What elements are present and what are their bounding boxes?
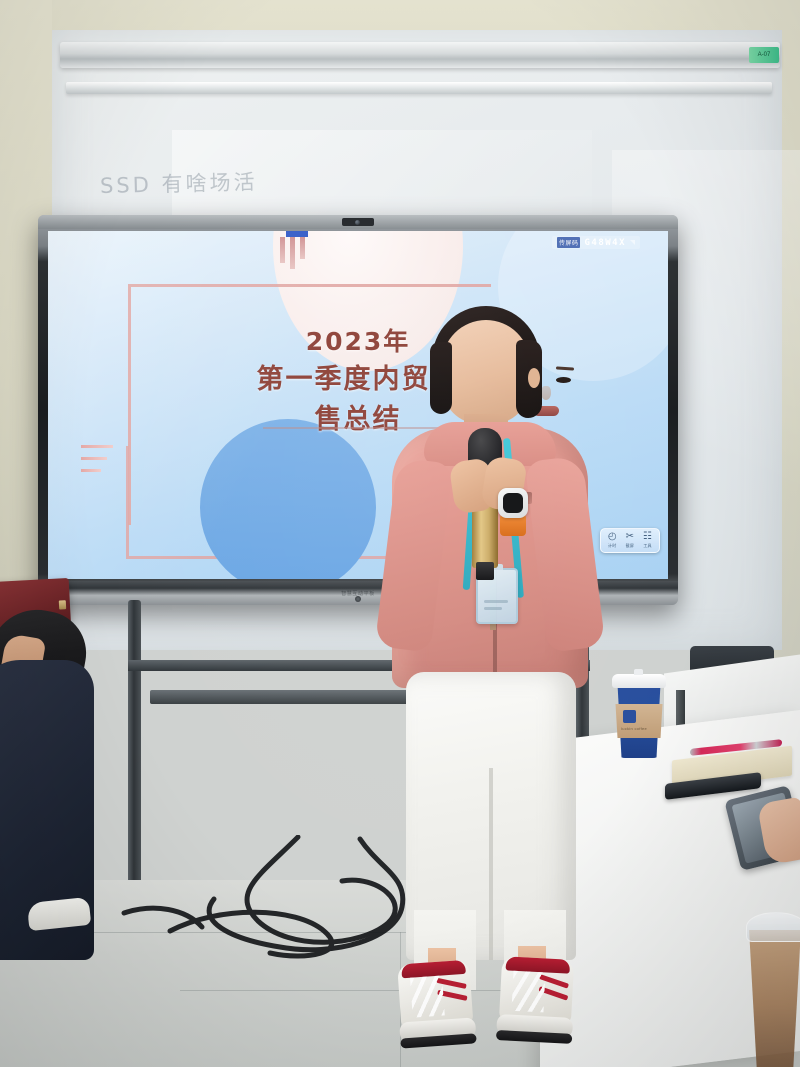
hot-coffee-cup: luckin coffee [612,672,666,760]
whiteboard-top-rail [60,42,780,68]
toolbar-scissors-icon[interactable]: ✂ 截屏 [626,532,634,549]
cast-code-tag: 传屏码 [557,237,581,248]
presenter-eye-right [556,377,571,383]
presenter: TAIKOO [380,310,610,1067]
whiteboard-scribble: SSD 有啥场活 [100,166,258,200]
presenter-nose [541,386,551,400]
sneaker-left [397,960,475,1051]
toolbar-grid-icon[interactable]: ☷ 工具 [643,532,652,549]
cup-lid-tab [634,669,643,675]
slide-line-decoration [81,445,113,481]
presenter-hair-left-side [430,342,452,414]
cup-lid [612,674,666,688]
microphone-base [476,562,494,580]
display-top-bezel [38,215,678,229]
coffee-brand-logo-icon [623,710,636,723]
cup-sleeve: luckin coffee [614,704,664,738]
coffee-brand-text: luckin coffee [621,726,647,731]
whiteboard-marker-tray [66,82,772,94]
cast-code-value: G48W4X [584,238,626,248]
photo-scene: SSD 有啥场活 A-07 2023年 第一季度内贸销 售总 [0,0,800,1067]
sneaker-right [498,956,574,1046]
presenter-ear [528,368,540,388]
rail-sticker-label: A-07 [749,47,779,63]
presenter-eyebrow-right [556,366,574,370]
screen-cast-code-badge: 传屏码 G48W4X [552,236,640,249]
power-button-icon[interactable] [355,596,361,602]
iced-cup-body [748,930,800,1067]
case-latch-icon [59,600,66,609]
iced-coffee-cup [748,912,800,1067]
slide-vertical-bars-decoration [280,237,324,269]
display-camera-icon [342,218,374,226]
iced-cup-dome-lid [746,912,800,942]
smartwatch-screen[interactable] [503,493,523,513]
cast-badge-fold-icon [630,240,635,245]
smartwatch[interactable] [498,488,528,518]
